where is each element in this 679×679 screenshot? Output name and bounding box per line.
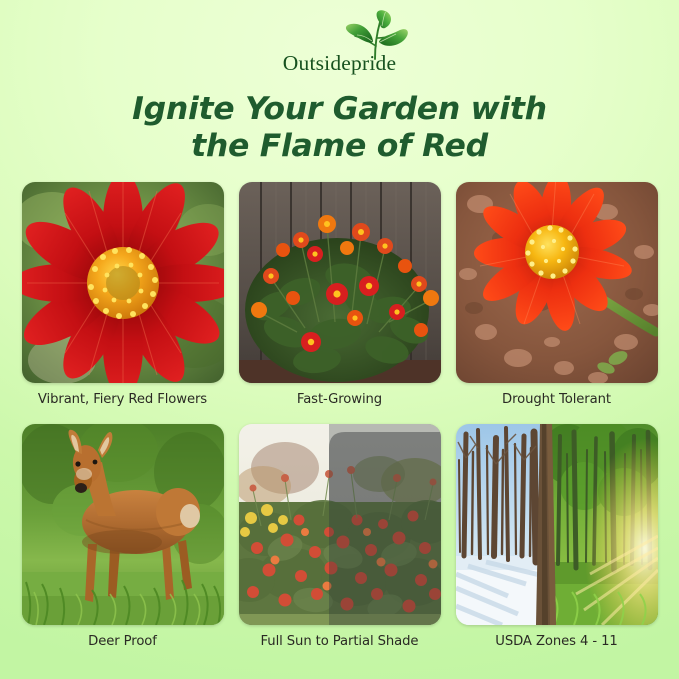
feature-cell: USDA Zones 4 - 11 [456, 424, 658, 649]
headline-line-1: Ignite Your Garden with [132, 91, 547, 127]
page-title: Ignite Your Garden with the Flame of Red [30, 91, 650, 165]
feature-caption: USDA Zones 4 - 11 [456, 634, 658, 649]
brand-logo: Outsidepride [230, 13, 450, 75]
feature-cell: Deer Proof [22, 424, 224, 649]
feature-caption: Vibrant, Fiery Red Flowers [22, 392, 224, 407]
feature-caption: Drought Tolerant [456, 392, 658, 407]
red-flower-closeup-photo [22, 182, 224, 383]
feature-cell: Drought Tolerant [456, 182, 658, 407]
feature-caption: Full Sun to Partial Shade [239, 634, 441, 649]
flower-in-dry-soil-photo [456, 182, 658, 383]
headline-line-2: the Flame of Red [30, 128, 650, 165]
feature-caption: Deer Proof [22, 634, 224, 649]
promo-infographic: Outsidepride Ignite Your Garden with the… [0, 0, 679, 679]
feature-caption: Fast-Growing [239, 392, 441, 407]
deer-in-grass-photo [22, 424, 224, 625]
feature-cell: Fast-Growing [239, 182, 441, 407]
bushy-plant-by-fence-photo [239, 182, 441, 383]
sun-shade-split-photo [239, 424, 441, 625]
brand-name: Outsidepride [230, 51, 450, 76]
feature-cell: Vibrant, Fiery Red Flowers [22, 182, 224, 407]
feature-grid: Vibrant, Fiery Red Flowers [22, 182, 658, 649]
winter-summer-forest-split-photo [456, 424, 658, 625]
feature-cell: Full Sun to Partial Shade [239, 424, 441, 649]
